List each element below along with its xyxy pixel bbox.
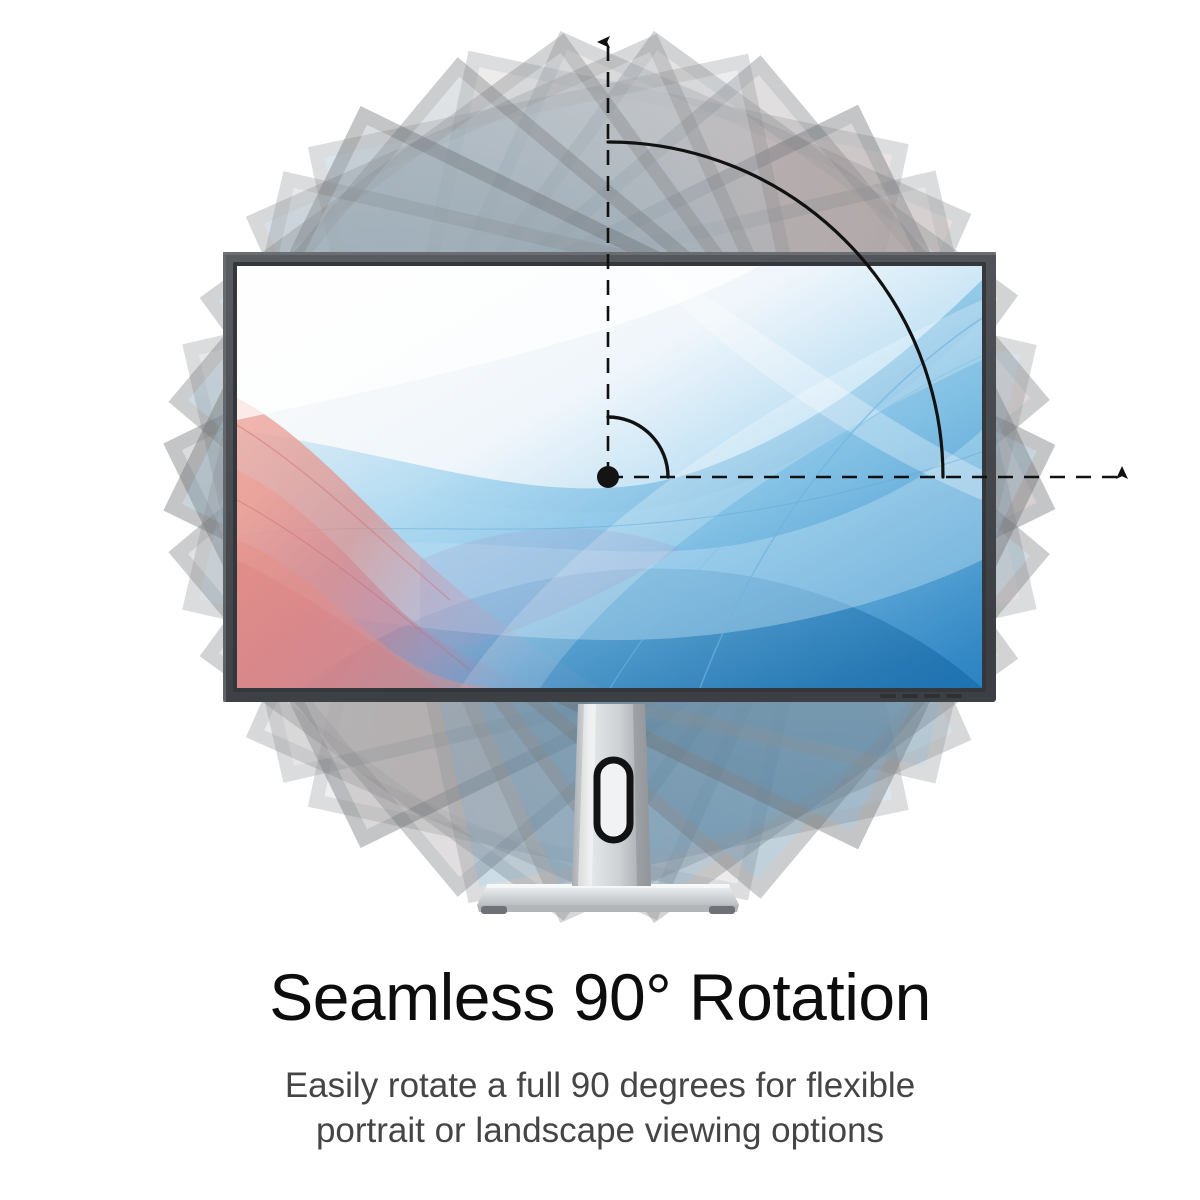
page-subtitle: Easily rotate a full 90 degrees for flex… xyxy=(285,1064,915,1154)
stand-base xyxy=(477,884,739,914)
pivot-point xyxy=(597,466,619,488)
stand-column xyxy=(572,704,651,886)
caption-block: Seamless 90° Rotation Easily rotate a fu… xyxy=(0,940,1200,1200)
subtitle-line-1: Easily rotate a full 90 degrees for flex… xyxy=(285,1064,915,1109)
subtitle-line-2: portrait or landscape viewing options xyxy=(285,1109,915,1154)
cable-management-hole-icon xyxy=(597,760,630,840)
page-title: Seamless 90° Rotation xyxy=(269,964,931,1030)
product-feature-card: Seamless 90° Rotation Easily rotate a fu… xyxy=(0,0,1200,1200)
rotation-diagram xyxy=(0,0,1200,940)
rotation-diagram-svg xyxy=(0,0,1200,940)
